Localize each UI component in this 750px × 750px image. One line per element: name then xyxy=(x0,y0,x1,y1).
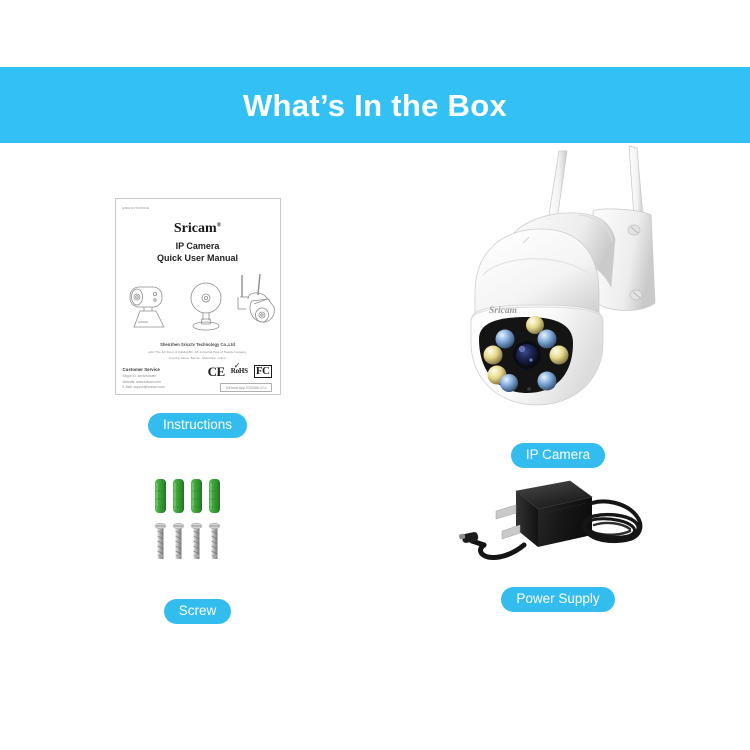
adapter-body xyxy=(516,481,592,547)
manual-address-line-1: Add: The 4th Floor of building5D, 4th In… xyxy=(124,350,272,354)
page-header-banner: What’s In the Box xyxy=(0,67,750,143)
label-screw: Screw xyxy=(164,599,232,624)
manual-customer-service-skype: Skype ID: srictv/sricam xyxy=(123,374,157,378)
antenna-right-icon xyxy=(629,146,643,218)
user-manual-booklet-icon: EN/ES/IT/FR/DE Sricam® IP Camera Quick U… xyxy=(115,198,281,395)
ptz-camera-line-art-icon xyxy=(234,271,281,329)
camera-lens-ball-icon xyxy=(471,305,603,405)
led-white-right-icon xyxy=(550,346,569,365)
power-supply-image xyxy=(458,463,658,573)
manual-customer-service-website: Website: www.sricam.com xyxy=(123,380,161,384)
manual-brand: Sricam® xyxy=(116,221,280,237)
wall-anchor xyxy=(209,479,220,513)
dc-output-cable xyxy=(459,531,524,557)
screw xyxy=(173,523,184,559)
led-ir-bottom-right-icon xyxy=(538,372,557,391)
dome-camera-line-art-icon xyxy=(184,281,228,331)
page-title: What’s In the Box xyxy=(243,90,507,121)
led-white-left-icon xyxy=(484,346,503,365)
manual-brand-text: Sricam xyxy=(174,221,217,236)
led-white-top-icon xyxy=(526,316,544,334)
box-contents-grid: EN/ES/IT/FR/DE Sricam® IP Camera Quick U… xyxy=(0,143,750,750)
manual-customer-service-email: E-Mail: support@sricam.com xyxy=(123,385,165,389)
manual-product-line: IP Camera xyxy=(116,241,280,251)
box-item-power-supply: Power Supply xyxy=(378,463,738,612)
manual-certification-marks: CE ✓RoHS FC xyxy=(208,365,272,378)
box-item-screw: Screw xyxy=(20,473,375,624)
ptz-dome-camera-icon: Sricam xyxy=(443,143,673,433)
bullet-camera-line-art-icon xyxy=(126,283,172,331)
screws-and-wall-anchors-icon xyxy=(143,473,253,573)
wall-anchor-group-icon xyxy=(155,479,220,513)
ip-camera-image: Sricam xyxy=(443,143,673,433)
coiled-cable-bundle xyxy=(584,501,641,541)
camera-brand-logo: Sricam xyxy=(489,306,517,316)
wall-anchor xyxy=(173,479,184,513)
box-item-instructions: EN/ES/IT/FR/DE Sricam® IP Camera Quick U… xyxy=(20,198,375,438)
manual-company-name: Shenzhen Sricctv Technology Co.,Ltd xyxy=(116,342,280,347)
instructions-image: EN/ES/IT/FR/DE Sricam® IP Camera Quick U… xyxy=(115,198,281,395)
label-instructions: Instructions xyxy=(148,413,247,438)
fcc-mark-icon: FC xyxy=(254,365,272,378)
screw-image xyxy=(143,473,253,573)
wall-anchor xyxy=(191,479,202,513)
led-ir-top-left-icon xyxy=(496,330,515,349)
led-ir-bottom-left-icon xyxy=(500,374,518,392)
manual-customer-service-title: Customer Service xyxy=(123,367,160,372)
rohs-mark-icon: ✓RoHS xyxy=(231,368,248,375)
label-power-supply: Power Supply xyxy=(501,587,614,612)
screw-group-icon xyxy=(155,523,220,559)
screw xyxy=(155,523,166,559)
manual-app-version-label: SriHome App 2020086-V2.0 xyxy=(220,383,271,392)
manual-address-line-2: Fuyong Street, Bao'an, Shenzhen, China xyxy=(124,356,272,360)
led-ir-top-right-icon xyxy=(538,330,557,349)
manual-language-codes: EN/ES/IT/FR/DE xyxy=(123,206,150,210)
box-item-ip-camera: Sricam IP Camera xyxy=(378,143,738,468)
ce-mark-icon: CE xyxy=(208,365,225,378)
manual-brand-mark: ® xyxy=(217,222,221,228)
rohs-check-icon: ✓ xyxy=(234,362,241,370)
screw xyxy=(209,523,220,559)
wall-anchor xyxy=(155,479,166,513)
manual-title-line: Quick User Manual xyxy=(116,253,280,263)
manual-camera-illustrations xyxy=(122,271,274,333)
screw xyxy=(191,523,202,559)
ac-power-adapter-icon xyxy=(458,463,658,573)
